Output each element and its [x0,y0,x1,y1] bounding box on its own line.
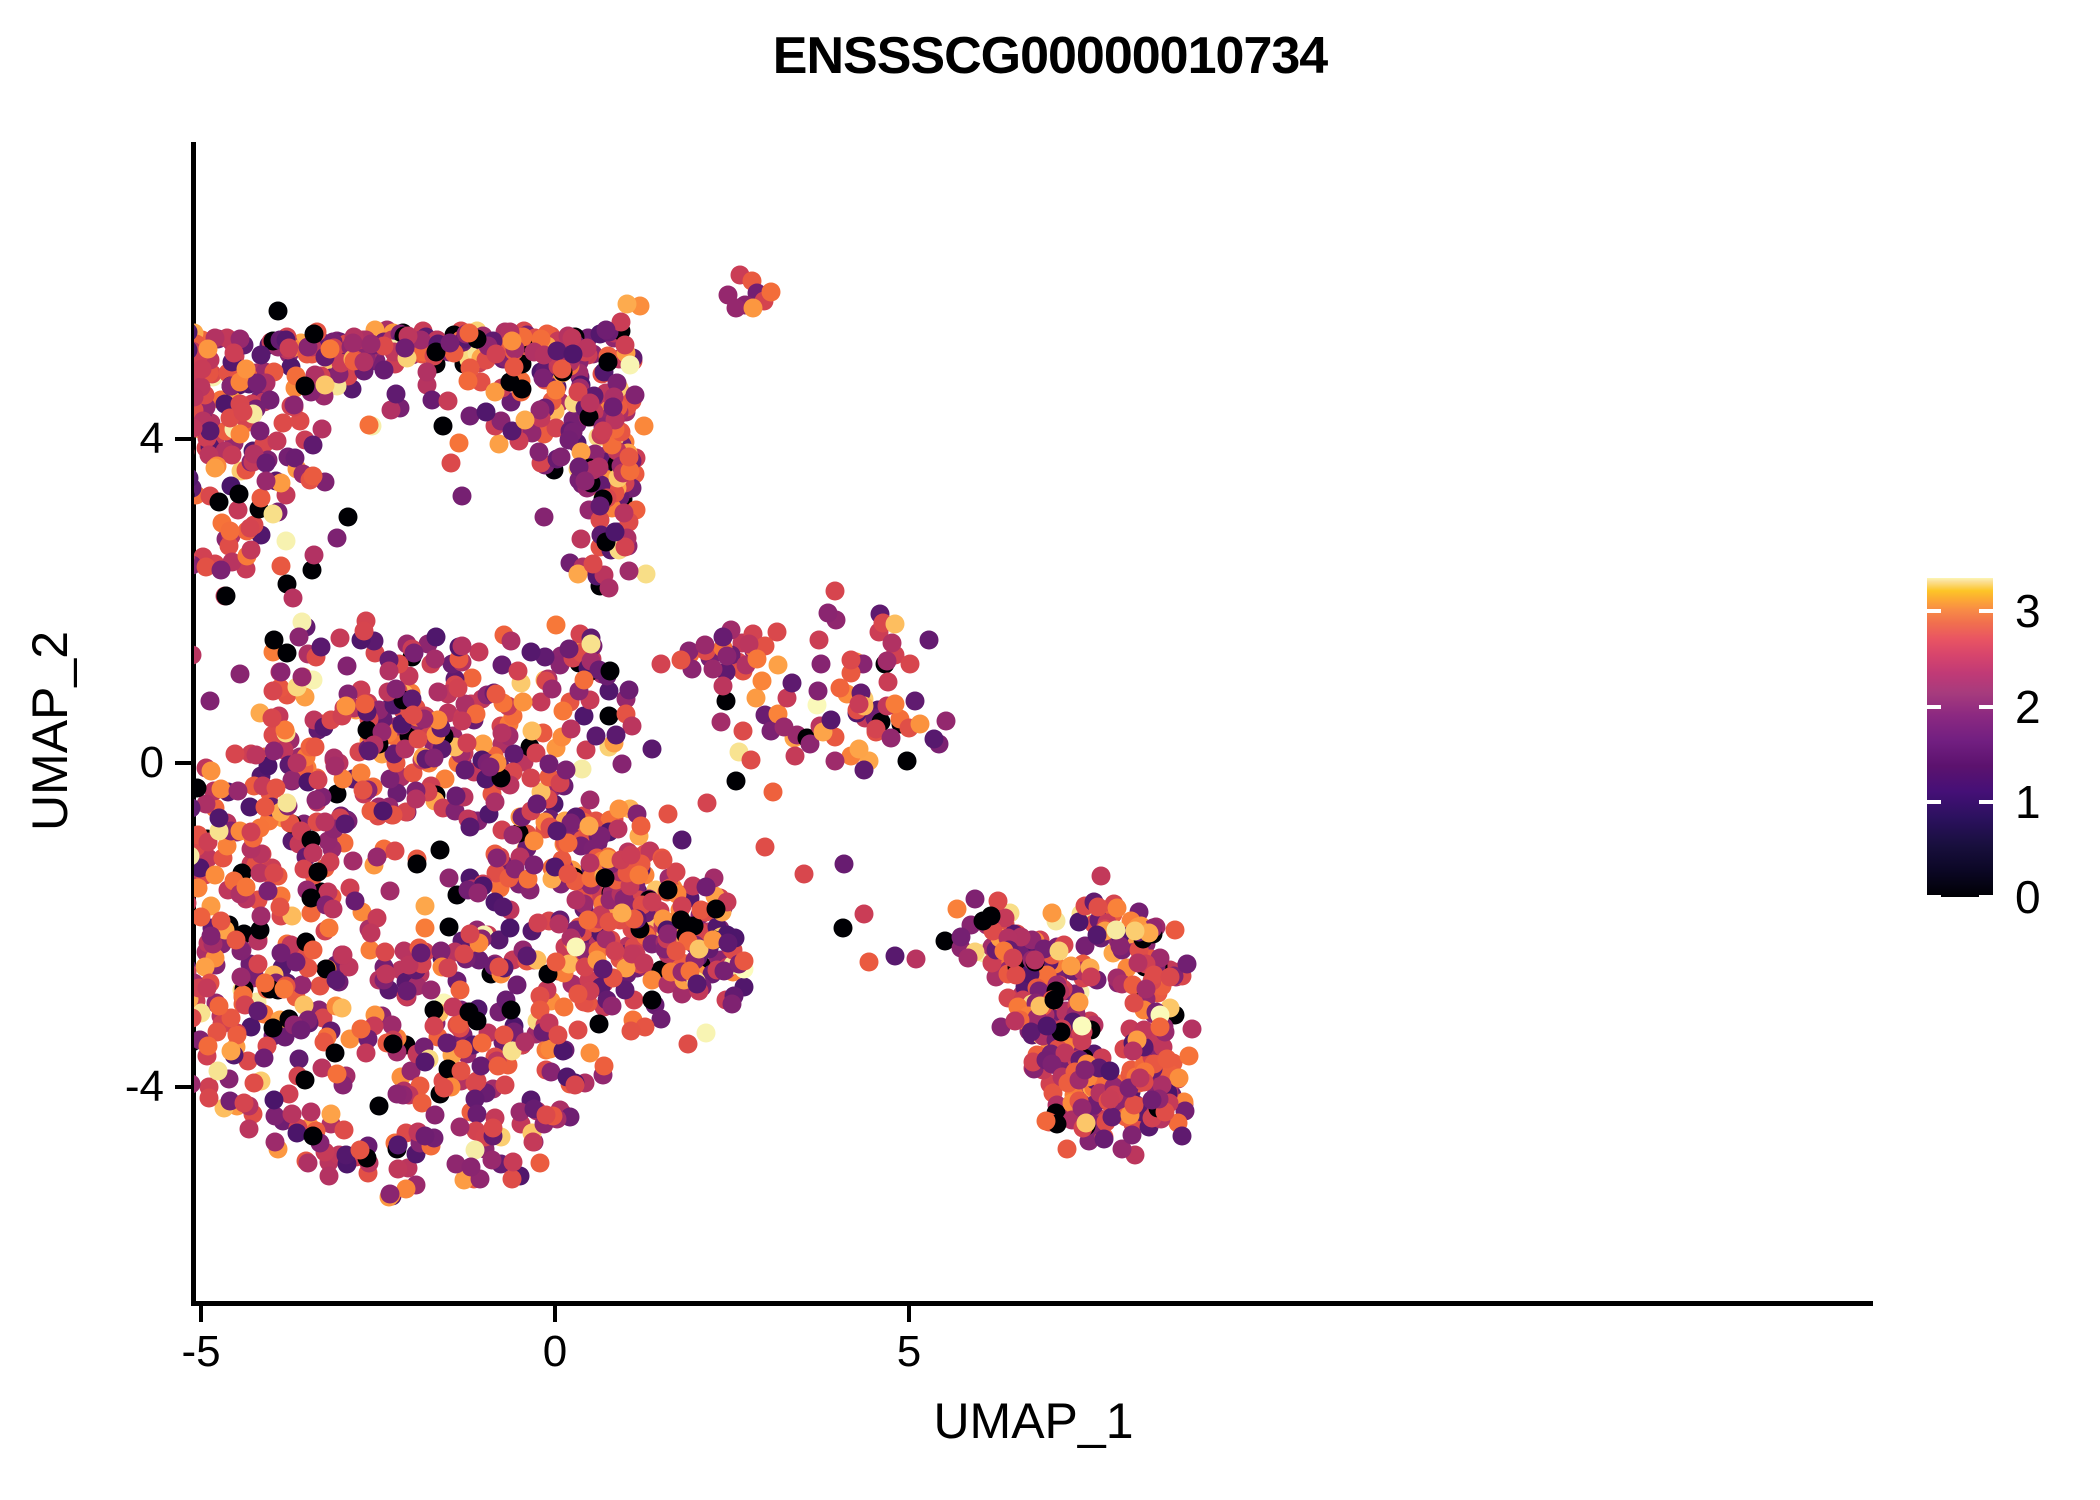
scatter-point [295,1070,314,1089]
scatter-point [346,891,365,910]
scatter-point [404,644,423,663]
scatter-point [397,982,416,1001]
scatter-point [672,650,691,669]
scatter-point [711,712,730,731]
scatter-point [312,637,331,656]
scatter-point [194,646,202,665]
scatter-point [335,815,354,834]
scatter-point [523,722,542,741]
colorbar-gradient [1927,578,1993,897]
scatter-point [316,812,335,831]
y-axis-label: UMAP_2 [21,371,79,1091]
colorbar-tick-mark [1979,895,1993,899]
scatter-point [247,746,266,765]
scatter-point [254,1049,273,1068]
scatter-point [489,957,508,976]
scatter-point [734,951,753,970]
scatter-point [579,816,598,835]
scatter-point [481,757,500,776]
scatter-point [416,919,435,938]
scatter-point [368,847,387,866]
scatter-point [504,745,523,764]
colorbar-tick-label: 1 [2015,775,2041,829]
scatter-point [713,628,732,647]
scatter-point [451,1061,470,1080]
scatter-point [609,819,628,838]
scatter-point [339,507,358,526]
scatter-point [212,561,231,580]
scatter-point [883,634,902,653]
scatter-point [333,999,352,1018]
scatter-point [208,1061,227,1080]
scatter-point [295,376,314,395]
scatter-point [652,654,671,673]
scatter-point [403,705,422,724]
scatter-point [200,692,219,711]
scatter-point [256,472,275,491]
scatter-point [388,1159,407,1178]
scatter-point [483,1119,502,1138]
scatter-point [248,1002,267,1021]
scatter-point [360,416,379,435]
scatter-point [906,950,925,969]
scatter-point [350,1141,369,1160]
scatter-point [1161,968,1180,987]
scatter-point [547,822,566,841]
scatter-point [1043,903,1062,922]
scatter-point [642,893,661,912]
scatter-point [449,434,468,453]
scatter-point [835,854,854,873]
scatter-point [488,1057,507,1076]
scatter-point [230,664,249,683]
scatter-point [547,616,566,635]
scatter-point [598,352,617,371]
scatter-point [1088,925,1107,944]
scatter-point [424,748,443,767]
scatter-point [522,768,541,787]
scatter-point [1037,1112,1056,1131]
scatter-point [289,628,308,647]
y-tick-label: -4 [125,1062,164,1112]
scatter-point [425,649,444,668]
scatter-point [264,505,283,524]
colorbar-tick-label: 2 [2015,680,2041,734]
scatter-point [878,652,897,671]
y-tick-label: 0 [140,738,164,788]
scatter-point [695,635,714,654]
scatter-point [1003,948,1022,967]
scatter-point [1173,1126,1192,1145]
scatter-point [753,672,772,691]
scatter-point [597,320,616,339]
scatter-point [319,1166,338,1185]
scatter-point [280,338,299,357]
scatter-point [483,1150,502,1169]
scatter-point [201,926,220,945]
scatter-point [606,522,625,541]
scatter-point [354,781,373,800]
scatter-point [744,298,763,317]
scatter-point [486,344,505,363]
scatter-point [417,363,436,382]
scatter-point [704,659,723,678]
scatter-point [200,1088,219,1107]
scatter-point [230,484,249,503]
scatter-point [513,693,532,712]
scatter-point [1136,979,1155,998]
scatter-point [380,662,399,681]
scatter-point [562,719,581,738]
scatter-point [502,632,521,651]
scatter-point [603,997,622,1016]
scatter-point [1007,966,1026,985]
scatter-point [425,1016,444,1035]
scatter-point [1170,1069,1189,1088]
scatter-point [292,667,311,686]
colorbar-tick-mark [1927,800,1941,804]
scatter-point [1125,1096,1144,1115]
y-tick-label: 4 [140,414,164,464]
scatter-point [206,459,225,478]
colorbar-tick-mark [1927,609,1941,613]
scatter-point [272,557,291,576]
scatter-point [599,579,618,598]
scatter-point [488,849,507,868]
scatter-point [537,1106,556,1125]
scatter-point [264,742,283,761]
scatter-point [304,844,323,863]
scatter-point [206,866,225,885]
scatter-point [768,655,787,674]
scatter-point [255,973,274,992]
scatter-point [210,997,229,1016]
scatter-point [291,1021,310,1040]
scatter-point [351,1019,370,1038]
scatter-point [287,754,306,773]
scatter-point [1151,1018,1170,1037]
scatter-point [620,356,639,375]
scatter-point [468,1011,487,1030]
scatter-point [438,1034,457,1053]
y-tick-mark [175,761,191,765]
scatter-point [504,357,523,376]
scatter-point [1101,1090,1120,1109]
scatter-point [442,454,461,473]
scatter-point [1103,1108,1122,1127]
scatter-point [308,770,327,789]
scatter-point [521,642,540,661]
scatter-point [320,918,339,937]
scatter-point [446,786,465,805]
scatter-point [337,696,356,715]
scatter-point [594,960,613,979]
scatter-point [629,866,648,885]
scatter-point [783,673,802,692]
scatter-point [299,1154,318,1173]
scatter-point [905,691,924,710]
scatter-point [229,782,248,801]
scatter-point [263,681,282,700]
scatter-point [502,1001,521,1020]
colorbar-tick-mark [1927,705,1941,709]
scatter-point [1165,920,1184,939]
scatter-point [574,670,593,689]
scatter-point [524,855,543,874]
scatter-point [673,831,692,850]
scatter-point [236,360,255,379]
scatter-point [237,878,256,897]
scatter-point [761,282,780,301]
scatter-point [1183,1019,1202,1038]
scatter-point [594,421,613,440]
scatter-point [1110,937,1129,956]
scatter-point [384,1035,403,1054]
colorbar-tick-mark [1979,609,1993,613]
scatter-point [671,911,690,930]
scatter-point [1128,954,1147,973]
scatter-point [706,900,725,919]
scatter-point [530,443,549,462]
scatter-point [632,816,651,835]
scatter-point [453,486,472,505]
scatter-point [525,832,544,851]
scatter-point [303,1126,322,1145]
scatter-point [517,947,536,966]
scatter-point [948,899,967,918]
scatter-point [334,946,353,965]
scatter-point [936,712,955,731]
scatter-point [284,589,303,608]
scatter-point [320,340,339,359]
scatter-point [303,941,322,960]
scatter-point [609,800,628,819]
scatter-point [809,631,828,650]
scatter-point [547,380,566,399]
scatter-point [573,759,592,778]
scatter-point [617,294,636,313]
scatter-point [582,634,601,653]
y-tick-mark [175,437,191,441]
scatter-point [959,949,978,968]
scatter-point [459,371,478,390]
scatter-point [335,1120,354,1139]
scatter-point [473,1034,492,1053]
scatter-point [272,943,291,962]
scatter-point [248,955,267,974]
x-tick-label: 5 [897,1327,921,1377]
scatter-point [257,453,276,472]
scatter-point [542,679,561,698]
scatter-point [714,676,733,695]
scatter-point [380,881,399,900]
scatter-point [241,822,260,841]
scatter-point [1073,1017,1092,1036]
scatter-point [343,334,362,353]
scatter-point [678,1035,697,1054]
scatter-point [550,914,569,933]
scatter-point [603,397,622,416]
scatter-point [811,655,830,674]
scatter-point [606,726,625,745]
scatter-point [244,1073,263,1092]
scatter-point [304,435,323,454]
scatter-point [748,649,767,668]
scatter-point [361,924,380,943]
scatter-point [642,991,661,1010]
scatter-point [613,755,632,774]
scatter-point [503,332,522,351]
scatter-point [376,943,395,962]
scatter-point [965,889,984,908]
scatter-point [201,761,220,780]
scatter-point [407,789,426,808]
scatter-point [485,792,504,811]
scatter-point [440,918,459,937]
scatter-point [620,448,639,467]
scatter-point [469,883,488,902]
scatter-point [1082,968,1101,987]
x-axis-label: UMAP_1 [194,1392,1873,1450]
scatter-point [304,545,323,564]
scatter-point [786,746,805,765]
x-tick-label: 0 [543,1327,567,1377]
scatter-point [269,302,288,321]
y-tick-mark [175,1085,191,1089]
scatter-point [382,401,401,420]
scatter-point [200,421,219,440]
scatter-point [277,531,296,550]
scatter-point [385,841,404,860]
scatter-point [356,694,375,713]
scatter-point [1070,993,1089,1012]
x-tick-mark [553,1306,557,1322]
scatter-point [263,1018,282,1037]
scatter-point [834,919,853,938]
scatter-point [388,1084,407,1103]
scatter-point [415,1053,434,1072]
scatter-point [252,488,271,507]
scatter-point [230,425,249,444]
scatter-point [252,346,271,365]
scatter-point [344,851,363,870]
scatter-point [327,529,346,548]
scatter-point [221,1042,240,1061]
scatter-point [233,403,252,422]
scatter-point [900,655,919,674]
scatter-point [454,1040,473,1059]
scatter-point [461,924,480,943]
scatter-point [282,1105,301,1124]
scatter-point [1088,898,1107,917]
scatter-point [1095,1129,1114,1148]
scatter-point [575,472,594,491]
scatter-point [1130,1068,1149,1087]
scatter-point [324,900,343,919]
scatter-point [226,745,245,764]
scatter-point [284,395,303,414]
scatter-point [221,522,240,541]
page-title: ENSSSCG00000010734 [0,26,2100,86]
scatter-point [741,751,760,770]
scatter-point [194,878,207,897]
scatter-point [209,809,228,828]
scatter-point [626,385,645,404]
scatter-point [1123,1042,1142,1061]
scatter-point [408,855,427,874]
scatter-point [854,904,873,923]
scatter-point [469,642,488,661]
scatter-point [634,416,653,435]
scatter-point [911,714,930,733]
scatter-point [369,1096,388,1115]
scatter-point [429,683,448,702]
x-tick-mark [199,1306,203,1322]
scatter-point [885,946,904,965]
scatter-point [885,614,904,633]
scatter-point [658,881,677,900]
scatter-point [559,864,578,883]
scatter-point [581,854,600,873]
scatter-point [1026,950,1045,969]
scatter-point [831,678,850,697]
scatter-point [387,679,406,698]
scatter-point [566,938,585,957]
scatter-point [422,981,441,1000]
scatter-point [565,1076,584,1095]
scatter-point [612,904,631,923]
scatter-point [503,826,522,845]
scatter-point [457,734,476,753]
scatter-point [241,541,260,560]
feature-plot-figure: ENSSSCG00000010734 -505 -404 UMAP_1 UMAP… [0,0,2100,1500]
scatter-point [591,497,610,516]
scatter-point [600,661,619,680]
scatter-point [240,1119,259,1138]
scatter-point [878,673,897,692]
scatter-point [228,501,247,520]
scatter-point [584,554,603,573]
scatter-point [309,863,328,882]
scatter-point [1045,990,1064,1009]
scatter-point [524,1133,543,1152]
scatter-point [307,791,326,810]
x-tick-mark [907,1306,911,1322]
scatter-point [697,793,716,812]
scatter-point [580,790,599,809]
scatter-point [925,729,944,748]
scatter-point [396,339,415,358]
scatter-point [240,519,259,538]
scatter-point [952,928,971,947]
scatter-point [1157,1049,1176,1068]
scatter-point [326,757,345,776]
scatter-point [355,621,374,640]
colorbar-tick-label: 3 [2015,584,2041,638]
scatter-point [637,564,656,583]
scatter-point [850,739,869,758]
scatter-point [198,978,217,997]
scatter-point [654,850,673,869]
scatter-point [755,837,774,856]
scatter-point [338,656,357,675]
scatter-point [535,507,554,526]
scatter-point [559,640,578,659]
scatter-point [886,695,905,714]
scatter-point [301,1102,320,1121]
scatter-point [460,324,479,343]
scatter-point [553,702,572,721]
